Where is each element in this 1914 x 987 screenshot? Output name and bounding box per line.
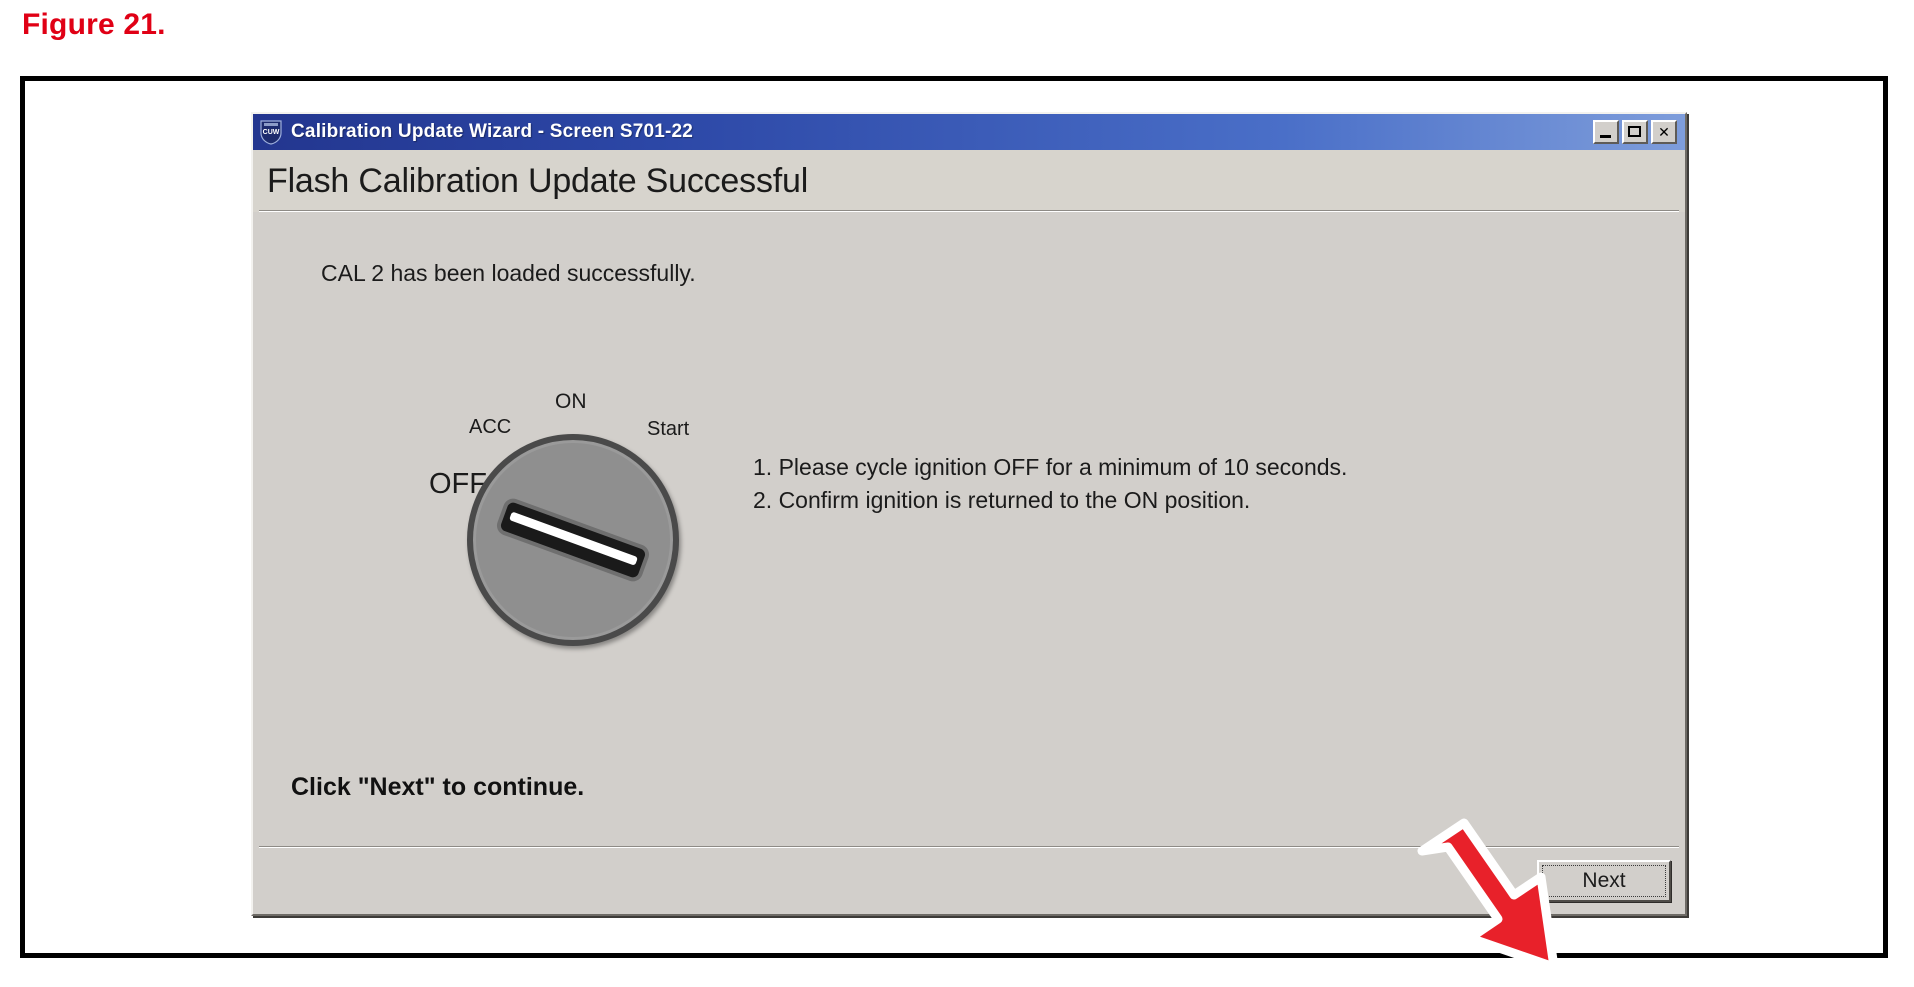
maximize-icon [1628,126,1641,137]
ignition-label-acc: ACC [469,416,511,439]
instruction-item-2: 2. Confirm ignition is returned to the O… [753,484,1347,517]
ignition-key-slot-icon [499,501,646,579]
figure-frame: CUW Calibration Update Wizard - Screen S… [20,76,1888,958]
close-icon: ✕ [1653,122,1675,142]
wizard-header: Flash Calibration Update Successful [253,150,1685,212]
window-title: Calibration Update Wizard - Screen S701-… [291,121,693,143]
page-title: Flash Calibration Update Successful [267,162,808,201]
svg-text:CUW: CUW [263,129,280,136]
instruction-item-1: 1. Please cycle ignition OFF for a minim… [753,451,1347,484]
ignition-label-on: ON [555,390,587,414]
instruction-list: 1. Please cycle ignition OFF for a minim… [753,451,1347,516]
next-button[interactable]: Next [1537,860,1671,902]
next-button-label: Next [1582,869,1625,893]
ignition-label-start: Start [647,418,689,441]
wizard-footer: Next [253,846,1685,914]
click-next-prompt: Click "Next" to continue. [291,773,584,802]
status-message: CAL 2 has been loaded successfully. [321,260,696,287]
cuw-shield-icon: CUW [259,119,283,145]
figure-caption: Figure 21. [22,8,166,42]
ignition-dial-icon [467,434,679,646]
window-controls: ✕ [1593,120,1681,144]
close-button[interactable]: ✕ [1651,120,1677,144]
maximize-button[interactable] [1622,120,1648,144]
wizard-content: CAL 2 has been loaded successfully. ON A… [253,212,1685,846]
window-title-bar: CUW Calibration Update Wizard - Screen S… [253,114,1685,150]
minimize-icon [1600,135,1611,138]
calibration-update-wizard-window: CUW Calibration Update Wizard - Screen S… [251,112,1687,916]
footer-divider [259,846,1679,848]
ignition-switch-diagram: ON ACC Start OFF [439,390,739,640]
minimize-button[interactable] [1593,120,1619,144]
